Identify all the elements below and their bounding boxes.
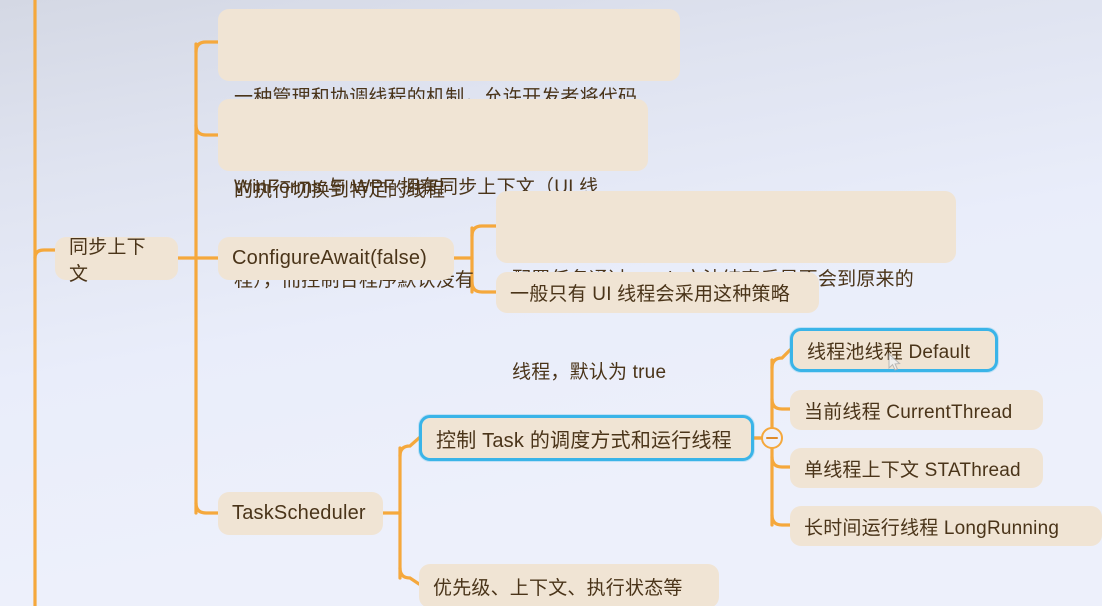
scheduler-sta-thread[interactable]: 单线程上下文 STAThread (790, 448, 1043, 488)
scheduler-current-thread[interactable]: 当前线程 CurrentThread (790, 390, 1043, 430)
node-configure-await[interactable]: ConfigureAwait(false) (218, 237, 454, 280)
node-label: 单线程上下文 STAThread (804, 455, 1021, 482)
scheduler-long-running[interactable]: 长时间运行线程 LongRunning (790, 506, 1102, 546)
node-label: ConfigureAwait(false) (232, 247, 427, 270)
note-ui-thread-strategy[interactable]: 一般只有 UI 线程会采用这种策略 (496, 272, 819, 313)
node-label: 长时间运行线程 LongRunning (804, 513, 1059, 540)
node-label: TaskScheduler (232, 502, 366, 525)
root-node-topic[interactable]: 同步上下文 (55, 237, 178, 280)
note-priority-context[interactable]: 优先级、上下文、执行状态等 (419, 564, 719, 606)
minus-circle-icon[interactable] (761, 427, 783, 449)
node-task-scheduler[interactable]: TaskScheduler (218, 492, 383, 535)
note-configure-await-desc[interactable]: 配置任务通过 await 方法结束后是否会到原来的 线程，默认为 true (496, 191, 956, 263)
root-node-label: 同步上下文 (69, 232, 164, 286)
scheduler-default[interactable]: 线程池线程 Default (790, 328, 998, 372)
note-line-1: 控制 Task 的调度方式和运行线程 (436, 424, 732, 453)
note-line-1: 优先级、上下文、执行状态等 (433, 573, 683, 600)
note-winforms-wpf[interactable]: WinForms 与 WPF 拥有同步上下文（UI 线 程），而控制台程序默认没… (218, 99, 648, 171)
note-task-control[interactable]: 控制 Task 的调度方式和运行线程 (419, 415, 754, 461)
note-sync-mechanism[interactable]: 一种管理和协调线程的机制，允许开发者将代码 的执行切换到特定的线程 (218, 9, 680, 81)
node-label: 当前线程 CurrentThread (804, 397, 1012, 424)
mindmap-canvas[interactable]: 同步上下文 一种管理和协调线程的机制，允许开发者将代码 的执行切换到特定的线程 … (0, 0, 1102, 606)
node-label: 线程池线程 Default (807, 337, 970, 364)
note-line-1: 一般只有 UI 线程会采用这种策略 (510, 279, 790, 306)
